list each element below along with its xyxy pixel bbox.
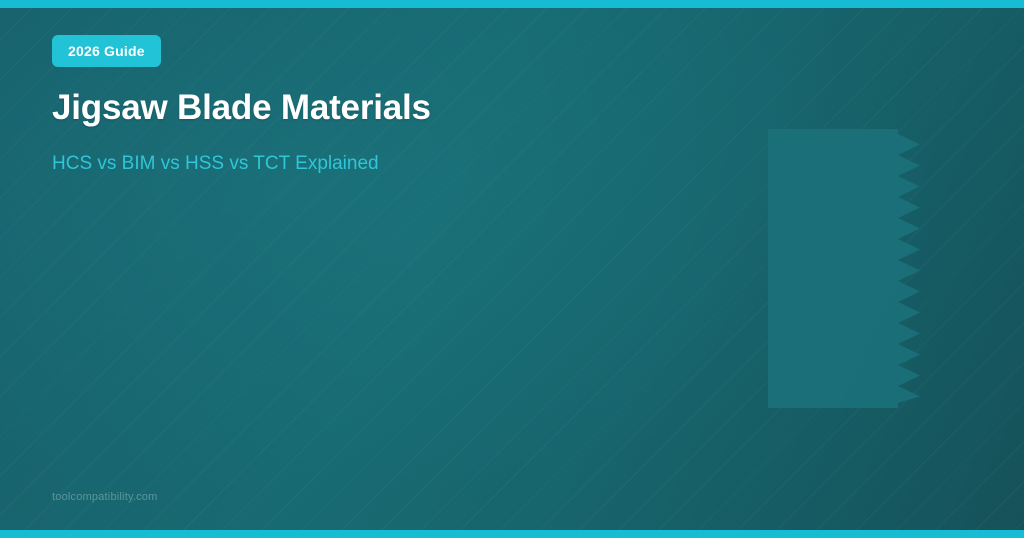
jigsaw-blade-illustration xyxy=(768,129,928,408)
badge-label: 2026 Guide xyxy=(68,43,145,59)
bottom-accent-bar xyxy=(0,530,1024,538)
site-watermark: toolcompatibility.com xyxy=(52,491,157,503)
year-guide-badge: 2026 Guide xyxy=(52,35,161,67)
blade-shape xyxy=(768,129,920,408)
page-subtitle: HCS vs BIM vs HSS vs TCT Explained xyxy=(52,153,379,175)
top-accent-bar xyxy=(0,0,1024,8)
banner-canvas: 2026 Guide Jigsaw Blade Materials HCS vs… xyxy=(0,0,1024,538)
page-title: Jigsaw Blade Materials xyxy=(52,88,431,128)
